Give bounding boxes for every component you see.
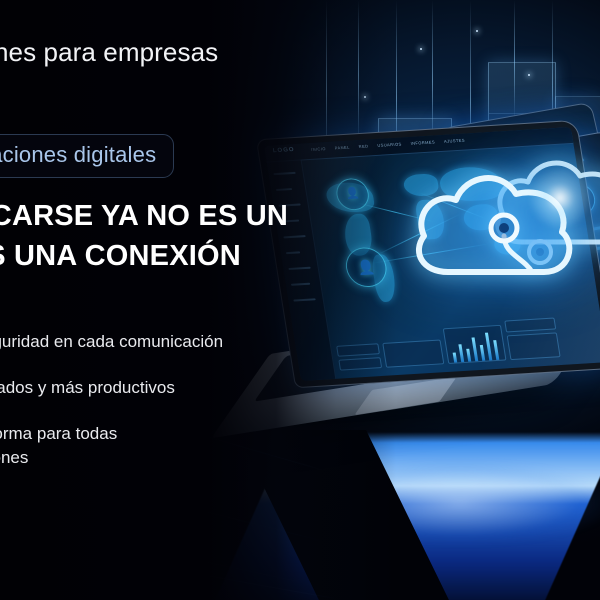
category-badge: Comunicaciones digitales (0, 134, 174, 178)
list-item: Una sola plataforma para todas las comun… (0, 422, 223, 470)
left-vignette (0, 0, 600, 600)
page-title: COMUNICARSE YA NO ES UN LUJO, ES UNA CON… (0, 196, 288, 276)
headline-line-1: COMUNICARSE YA NO ES UN (0, 196, 288, 236)
eyebrow-text: Soluciones para empresas (0, 37, 218, 68)
category-badge-label: Comunicaciones digitales (0, 142, 156, 167)
list-item: Equipos conectados y más productivos (0, 376, 223, 400)
list-item-line: Confianza y seguridad en cada comunicaci… (0, 330, 223, 354)
list-item-line: Una sola plataforma para todas (0, 422, 223, 446)
promo-banner: LOGO INICIO PANEL RED USUARIOS INFORMES … (0, 0, 600, 600)
list-item: Confianza y seguridad en cada comunicaci… (0, 330, 223, 354)
benefit-list: Confianza y seguridad en cada comunicaci… (0, 330, 223, 492)
list-item-line: Equipos conectados y más productivos (0, 376, 223, 400)
list-item-line: las comunicaciones (0, 446, 223, 470)
headline-line-2: LUJO, ES UNA CONEXIÓN (0, 236, 288, 276)
